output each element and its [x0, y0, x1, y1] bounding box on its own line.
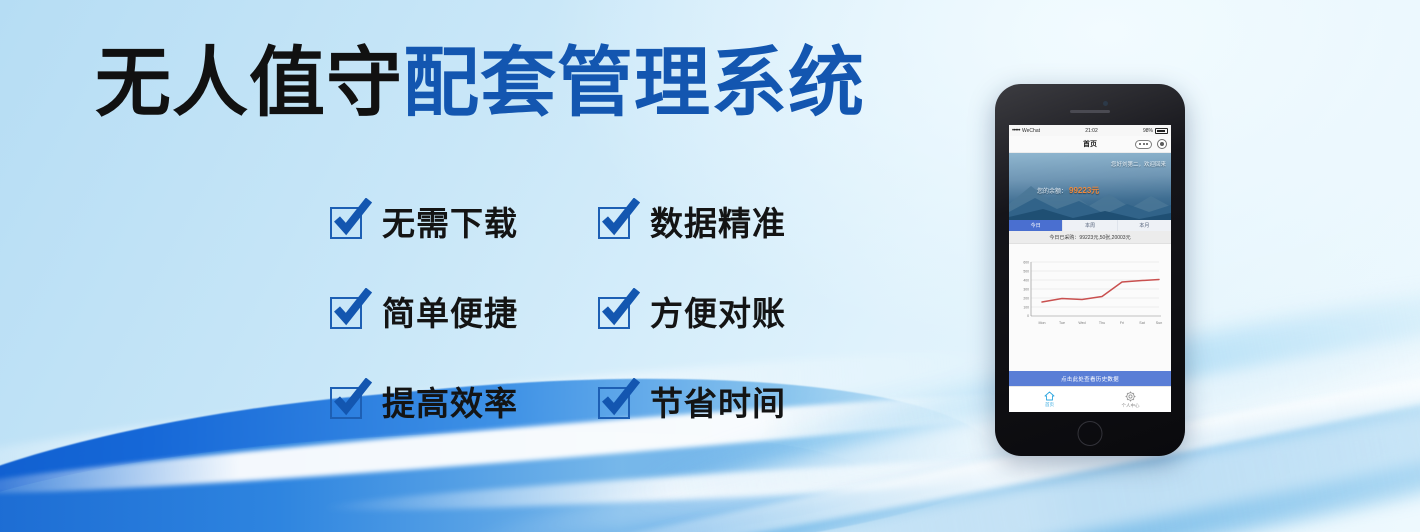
- wechat-nav-bar: 首页: [1009, 136, 1171, 153]
- feature-label: 数据精准: [650, 197, 786, 245]
- checkbox-checked-icon: [330, 203, 368, 239]
- hero-balance: 您的余额： 99223元: [1037, 185, 1099, 196]
- feature-item: 简单便捷: [330, 287, 598, 335]
- weekly-line-chart: 600 500 400 300 200 100 0 Mon Tue Wed Th…: [1009, 244, 1171, 371]
- tabbar-item-home[interactable]: 首页: [1009, 387, 1090, 412]
- battery-percent-label: 98%: [1143, 128, 1153, 134]
- feature-item: 数据精准: [598, 197, 866, 245]
- history-cta-button[interactable]: 点击此处查看历史数据: [1009, 371, 1171, 386]
- phone-screen: ••••• WeChat 21:02 98% 首页: [1009, 125, 1171, 412]
- feature-item: 节省时间: [598, 377, 866, 425]
- tabbar-label-home: 首页: [1045, 402, 1054, 408]
- phone-speaker: [1070, 110, 1110, 113]
- svg-text:Fri: Fri: [1120, 321, 1124, 325]
- nav-title: 首页: [1083, 139, 1097, 149]
- chart-svg: 600 500 400 300 200 100 0 Mon Tue Wed Th…: [1009, 244, 1171, 339]
- svg-text:400: 400: [1023, 279, 1029, 283]
- svg-text:600: 600: [1023, 261, 1029, 265]
- bottom-tab-bar: 首页 个人中心: [1009, 386, 1171, 412]
- svg-text:200: 200: [1023, 297, 1029, 301]
- feature-list: 无需下载 数据精准 简单便捷 方便对账: [330, 176, 866, 446]
- svg-text:500: 500: [1023, 270, 1029, 274]
- gear-icon: [1125, 391, 1136, 402]
- tab-today[interactable]: 今日: [1009, 220, 1063, 231]
- mountain-graphic: [1009, 174, 1171, 220]
- signal-dots-icon: •••••: [1012, 128, 1020, 134]
- balance-label: 您的余额：: [1037, 186, 1067, 195]
- svg-text:Thu: Thu: [1099, 321, 1105, 325]
- page-title: 无人值守配套管理系统: [0, 46, 960, 122]
- hero-banner: 您好刘第二，欢迎回来 您的余额： 99223元: [1009, 153, 1171, 220]
- feature-label: 简单便捷: [382, 287, 518, 335]
- svg-text:0: 0: [1027, 314, 1029, 318]
- feature-item: 提高效率: [330, 377, 598, 425]
- svg-text:Mon: Mon: [1039, 321, 1046, 325]
- checkbox-checked-icon: [330, 293, 368, 329]
- balance-value: 99223元: [1069, 185, 1099, 196]
- svg-text:Tue: Tue: [1059, 321, 1065, 325]
- tab-week[interactable]: 本周: [1063, 220, 1117, 231]
- tabbar-label-profile: 个人中心: [1122, 403, 1140, 409]
- checkbox-checked-icon: [598, 203, 636, 239]
- carrier-label: WeChat: [1022, 128, 1040, 134]
- more-dots-icon[interactable]: [1135, 140, 1152, 149]
- svg-text:Sat: Sat: [1139, 321, 1144, 325]
- feature-label: 方便对账: [650, 287, 786, 335]
- status-bar: ••••• WeChat 21:02 98%: [1009, 125, 1171, 136]
- tabbar-item-profile[interactable]: 个人中心: [1090, 387, 1171, 412]
- home-icon: [1044, 391, 1055, 401]
- headline-dark-text: 无人值守: [95, 41, 403, 126]
- hero-greeting: 您好刘第二，欢迎回来: [1111, 160, 1166, 168]
- phone-mockup: ••••• WeChat 21:02 98% 首页: [995, 84, 1185, 456]
- checkbox-checked-icon: [598, 293, 636, 329]
- feature-label: 提高效率: [382, 377, 518, 425]
- summary-strip: 今日已采购：99223元,50张,20003元: [1009, 231, 1171, 244]
- feature-item: 方便对账: [598, 287, 866, 335]
- svg-text:300: 300: [1023, 288, 1029, 292]
- phone-camera-icon: [1103, 101, 1108, 106]
- feature-label: 节省时间: [650, 377, 786, 425]
- status-time: 21:02: [1085, 128, 1098, 134]
- period-tabs: 今日 本周 本月: [1009, 220, 1171, 231]
- promo-banner: 无人值守配套管理系统 无需下载 数据精准 简单便捷: [0, 0, 1420, 532]
- svg-text:Sun: Sun: [1156, 321, 1162, 325]
- svg-text:100: 100: [1023, 306, 1029, 310]
- feature-label: 无需下载: [382, 197, 518, 245]
- target-close-icon[interactable]: [1157, 139, 1167, 149]
- checkbox-checked-icon: [598, 383, 636, 419]
- checkbox-checked-icon: [330, 383, 368, 419]
- headline-accent-text: 配套管理系统: [403, 41, 865, 126]
- battery-icon: [1155, 128, 1168, 134]
- feature-item: 无需下载: [330, 197, 598, 245]
- phone-home-button[interactable]: [1078, 421, 1103, 446]
- tab-month[interactable]: 本月: [1118, 220, 1171, 231]
- svg-text:Wed: Wed: [1078, 321, 1085, 325]
